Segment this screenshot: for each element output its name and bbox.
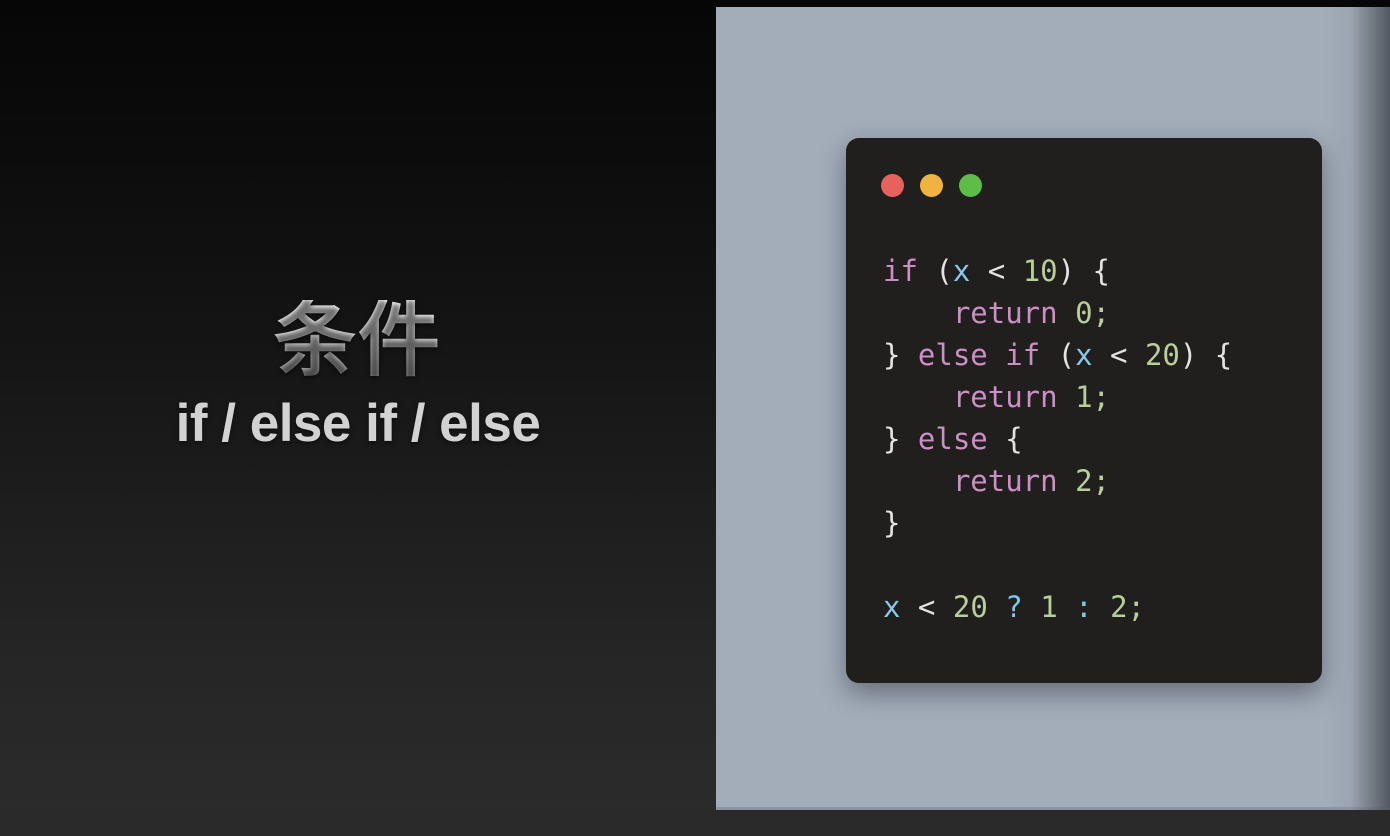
code-token-punct: { bbox=[988, 422, 1023, 456]
window-controls bbox=[881, 174, 982, 197]
minimize-button-icon[interactable] bbox=[920, 174, 943, 197]
code-token-keyword: return bbox=[953, 464, 1058, 498]
code-token-punct bbox=[988, 338, 1005, 372]
page-subtitle: if / else if / else bbox=[0, 396, 716, 452]
code-line: } else { bbox=[883, 418, 1308, 460]
code-line: return 1; bbox=[883, 376, 1308, 418]
code-token-keyword: return bbox=[953, 296, 1058, 330]
code-token-number: 2 bbox=[1110, 590, 1127, 624]
code-token-keyword: return bbox=[953, 380, 1058, 414]
bottom-edge-strip bbox=[0, 810, 1390, 836]
code-line: return 0; bbox=[883, 292, 1308, 334]
code-token-punct bbox=[1058, 590, 1075, 624]
code-token-punct: < bbox=[1093, 338, 1145, 372]
code-token-punct: ( bbox=[1040, 338, 1075, 372]
code-token-variable: x bbox=[883, 590, 900, 624]
code-token-keyword: else bbox=[918, 338, 988, 372]
top-edge-strip bbox=[716, 0, 1390, 7]
code-token-operator: : bbox=[1075, 590, 1092, 624]
code-token-punct: } bbox=[883, 338, 918, 372]
code-token-punct bbox=[1058, 296, 1075, 330]
code-token-punct bbox=[883, 464, 953, 498]
code-token-number: ; bbox=[1128, 590, 1145, 624]
code-token-punct: < bbox=[900, 590, 952, 624]
code-token-number: 2 bbox=[1075, 464, 1092, 498]
code-block: if (x < 10) { return 0;} else if (x < 20… bbox=[883, 250, 1308, 628]
code-token-punct: ) { bbox=[1180, 338, 1232, 372]
panel-fold-shadow bbox=[1324, 7, 1390, 810]
code-token-punct bbox=[988, 590, 1005, 624]
title-block: 条件 if / else if / else bbox=[0, 300, 716, 452]
code-token-keyword: if bbox=[883, 254, 918, 288]
code-token-number: 1 bbox=[1040, 590, 1057, 624]
code-token-number: ; bbox=[1093, 296, 1110, 330]
code-token-punct bbox=[1058, 464, 1075, 498]
code-token-punct: ) { bbox=[1058, 254, 1110, 288]
code-token-operator: ? bbox=[1005, 590, 1022, 624]
code-token-number: ; bbox=[1093, 464, 1110, 498]
code-token-number: ; bbox=[1093, 380, 1110, 414]
code-token-number: 1 bbox=[1075, 380, 1092, 414]
code-token-number: 20 bbox=[953, 590, 988, 624]
code-token-keyword: else bbox=[918, 422, 988, 456]
code-token-punct bbox=[1058, 380, 1075, 414]
code-token-punct: ( bbox=[918, 254, 953, 288]
slide-canvas: 条件 if / else if / else if (x < 10) { ret… bbox=[0, 0, 1390, 836]
code-token-punct bbox=[1093, 590, 1110, 624]
code-token-number: 0 bbox=[1075, 296, 1092, 330]
code-token-punct bbox=[1023, 590, 1040, 624]
code-line: x < 20 ? 1 : 2; bbox=[883, 586, 1308, 628]
left-title-pane: 条件 if / else if / else bbox=[0, 0, 716, 836]
code-line: } bbox=[883, 502, 1308, 544]
code-token-punct: < bbox=[970, 254, 1022, 288]
code-token-punct: } bbox=[883, 506, 900, 540]
code-token-number: 20 bbox=[1145, 338, 1180, 372]
code-token-variable: x bbox=[953, 254, 970, 288]
code-token-variable: x bbox=[1075, 338, 1092, 372]
close-button-icon[interactable] bbox=[881, 174, 904, 197]
code-token-punct: } bbox=[883, 422, 918, 456]
code-window-card: if (x < 10) { return 0;} else if (x < 20… bbox=[846, 138, 1322, 683]
code-token-punct bbox=[883, 380, 953, 414]
code-line: if (x < 10) { bbox=[883, 250, 1308, 292]
code-line: } else if (x < 20) { bbox=[883, 334, 1308, 376]
code-token-keyword: if bbox=[1005, 338, 1040, 372]
code-token-number: 10 bbox=[1023, 254, 1058, 288]
code-line bbox=[883, 544, 1308, 586]
code-panel: if (x < 10) { return 0;} else if (x < 20… bbox=[716, 7, 1390, 810]
code-line: return 2; bbox=[883, 460, 1308, 502]
zoom-button-icon[interactable] bbox=[959, 174, 982, 197]
code-token-punct bbox=[883, 296, 953, 330]
page-title: 条件 bbox=[0, 300, 716, 382]
